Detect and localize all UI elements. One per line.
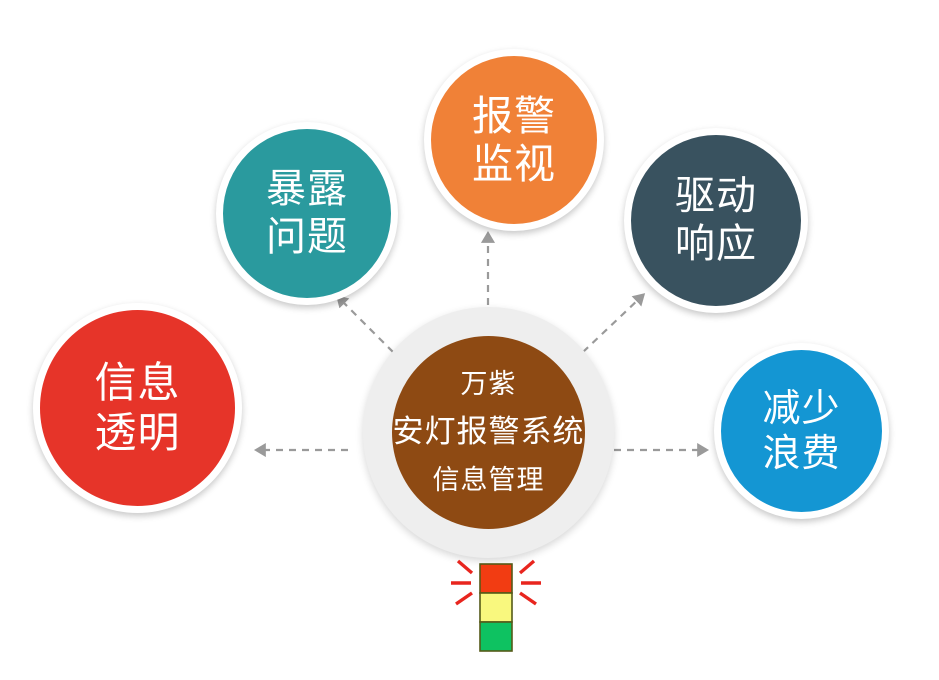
- node-expose-problems-line2: 问题: [266, 214, 348, 261]
- node-information-transparency[interactable]: 信息 透明: [33, 303, 242, 513]
- node-alarm-monitoring-line1: 报警: [472, 92, 556, 140]
- arrow-hub-to-expose-problems: [341, 300, 393, 352]
- node-alarm-monitoring-line2: 监视: [472, 140, 556, 188]
- node-alarm-monitoring[interactable]: 报警 监视: [424, 49, 604, 231]
- hub-line-management: 信息管理: [433, 466, 545, 496]
- hub-line-brand: 万紫: [461, 370, 517, 400]
- flash-line-right-upper: [520, 561, 534, 573]
- andon-light-tower-icon: [441, 548, 551, 653]
- diagram-canvas: 报警 监视 暴露 问题 驱动 响应 信息 透明 减少 浪费 万紫 安灯报警系统 …: [0, 0, 939, 680]
- hub-andon-alarm-system[interactable]: 万紫 安灯报警系统 信息管理: [392, 336, 585, 529]
- node-reduce-waste-line1: 减少: [762, 386, 840, 431]
- hub-line-system: 安灯报警系统: [393, 415, 585, 449]
- yellow-lamp: [480, 593, 512, 622]
- arrow-hub-to-drive-response: [583, 298, 640, 352]
- node-drive-response-line2: 响应: [675, 221, 757, 268]
- flash-line-left-upper: [458, 561, 472, 573]
- node-reduce-waste-line2: 浪费: [762, 431, 840, 476]
- node-reduce-waste[interactable]: 减少 浪费: [714, 343, 889, 519]
- node-information-transparency-line2: 透明: [94, 408, 180, 458]
- node-drive-response-line1: 驱动: [675, 173, 757, 220]
- flash-line-right-lower: [520, 593, 536, 604]
- node-information-transparency-line1: 信息: [94, 358, 180, 408]
- node-expose-problems-line1: 暴露: [266, 166, 348, 213]
- node-expose-problems[interactable]: 暴露 问题: [216, 122, 398, 305]
- red-lamp: [480, 564, 512, 593]
- green-lamp: [480, 622, 512, 651]
- node-drive-response[interactable]: 驱动 响应: [624, 128, 808, 313]
- flash-line-left-lower: [456, 593, 472, 604]
